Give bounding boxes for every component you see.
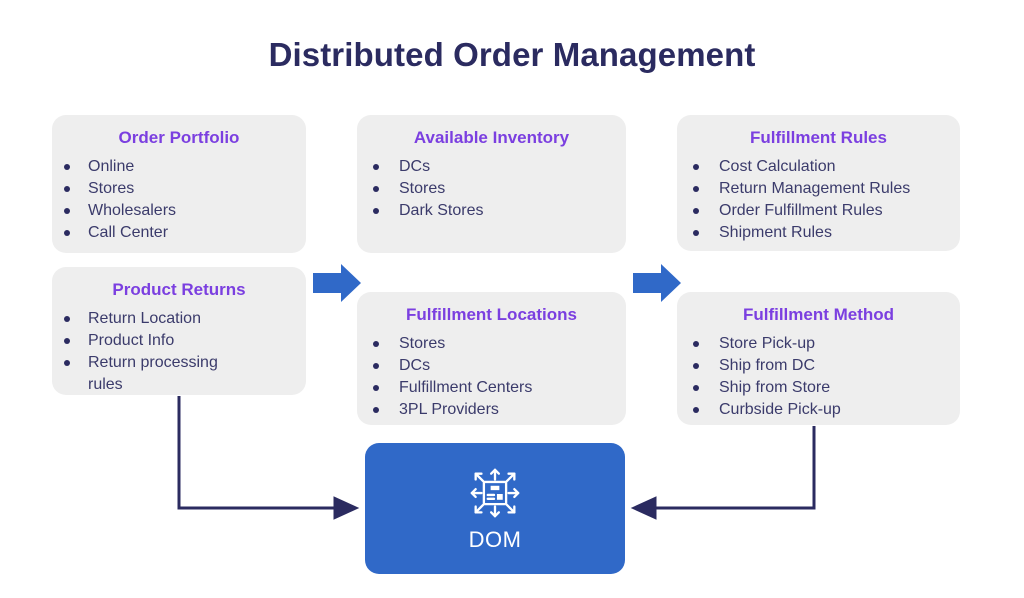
list-item: Dark Stores bbox=[357, 200, 626, 222]
card-fulfillment-rules: Fulfillment Rules Cost Calculation Retur… bbox=[677, 115, 960, 251]
list-item: 3PL Providers bbox=[357, 399, 626, 421]
list-item: Wholesalers bbox=[52, 200, 306, 222]
card-list-available-inventory: DCs Stores Dark Stores bbox=[357, 156, 626, 221]
card-list-fulfillment-rules: Cost Calculation Return Management Rules… bbox=[677, 156, 960, 243]
arrow-left-to-middle bbox=[313, 264, 361, 302]
list-item: Ship from DC bbox=[677, 355, 960, 377]
card-order-portfolio: Order Portfolio Online Stores Wholesaler… bbox=[52, 115, 306, 253]
card-title-product-returns: Product Returns bbox=[52, 280, 306, 300]
list-item: Product Info bbox=[52, 330, 306, 352]
card-product-returns: Product Returns Return Location Product … bbox=[52, 267, 306, 395]
card-list-order-portfolio: Online Stores Wholesalers Call Center bbox=[52, 156, 306, 243]
page-title: Distributed Order Management bbox=[0, 36, 1024, 74]
list-item: Stores bbox=[357, 178, 626, 200]
list-item: Return processing rules bbox=[52, 352, 306, 396]
list-item: Curbside Pick-up bbox=[677, 399, 960, 421]
connector-method-to-dom bbox=[634, 426, 814, 508]
card-title-fulfillment-rules: Fulfillment Rules bbox=[677, 128, 960, 148]
card-list-fulfillment-method: Store Pick-up Ship from DC Ship from Sto… bbox=[677, 333, 960, 420]
diagram-canvas: Distributed Order Management Order Portf… bbox=[0, 0, 1024, 598]
list-item: DCs bbox=[357, 355, 626, 377]
list-item: Stores bbox=[52, 178, 306, 200]
list-item: Stores bbox=[357, 333, 626, 355]
card-available-inventory: Available Inventory DCs Stores Dark Stor… bbox=[357, 115, 626, 253]
card-title-fulfillment-locations: Fulfillment Locations bbox=[357, 305, 626, 325]
connector-returns-to-dom bbox=[179, 396, 356, 508]
card-list-fulfillment-locations: Stores DCs Fulfillment Centers 3PL Provi… bbox=[357, 333, 626, 420]
card-fulfillment-locations: Fulfillment Locations Stores DCs Fulfill… bbox=[357, 292, 626, 425]
dom-hub-box: DOM bbox=[365, 443, 625, 574]
distributed-network-icon bbox=[464, 465, 526, 523]
list-item: Return Location bbox=[52, 308, 306, 330]
card-list-product-returns: Return Location Product Info Return proc… bbox=[52, 308, 306, 395]
list-item: Call Center bbox=[52, 222, 306, 244]
list-item: Cost Calculation bbox=[677, 156, 960, 178]
list-item: Fulfillment Centers bbox=[357, 377, 626, 399]
card-title-available-inventory: Available Inventory bbox=[357, 128, 626, 148]
list-item: Shipment Rules bbox=[677, 222, 960, 244]
card-title-fulfillment-method: Fulfillment Method bbox=[677, 305, 960, 325]
card-title-order-portfolio: Order Portfolio bbox=[52, 128, 306, 148]
list-item: Store Pick-up bbox=[677, 333, 960, 355]
list-item: Order Fulfillment Rules bbox=[677, 200, 960, 222]
list-item: DCs bbox=[357, 156, 626, 178]
card-fulfillment-method: Fulfillment Method Store Pick-up Ship fr… bbox=[677, 292, 960, 425]
list-item: Return Management Rules bbox=[677, 178, 960, 200]
dom-label: DOM bbox=[469, 527, 522, 553]
arrow-middle-to-right bbox=[633, 264, 681, 302]
list-item: Ship from Store bbox=[677, 377, 960, 399]
list-item: Online bbox=[52, 156, 306, 178]
